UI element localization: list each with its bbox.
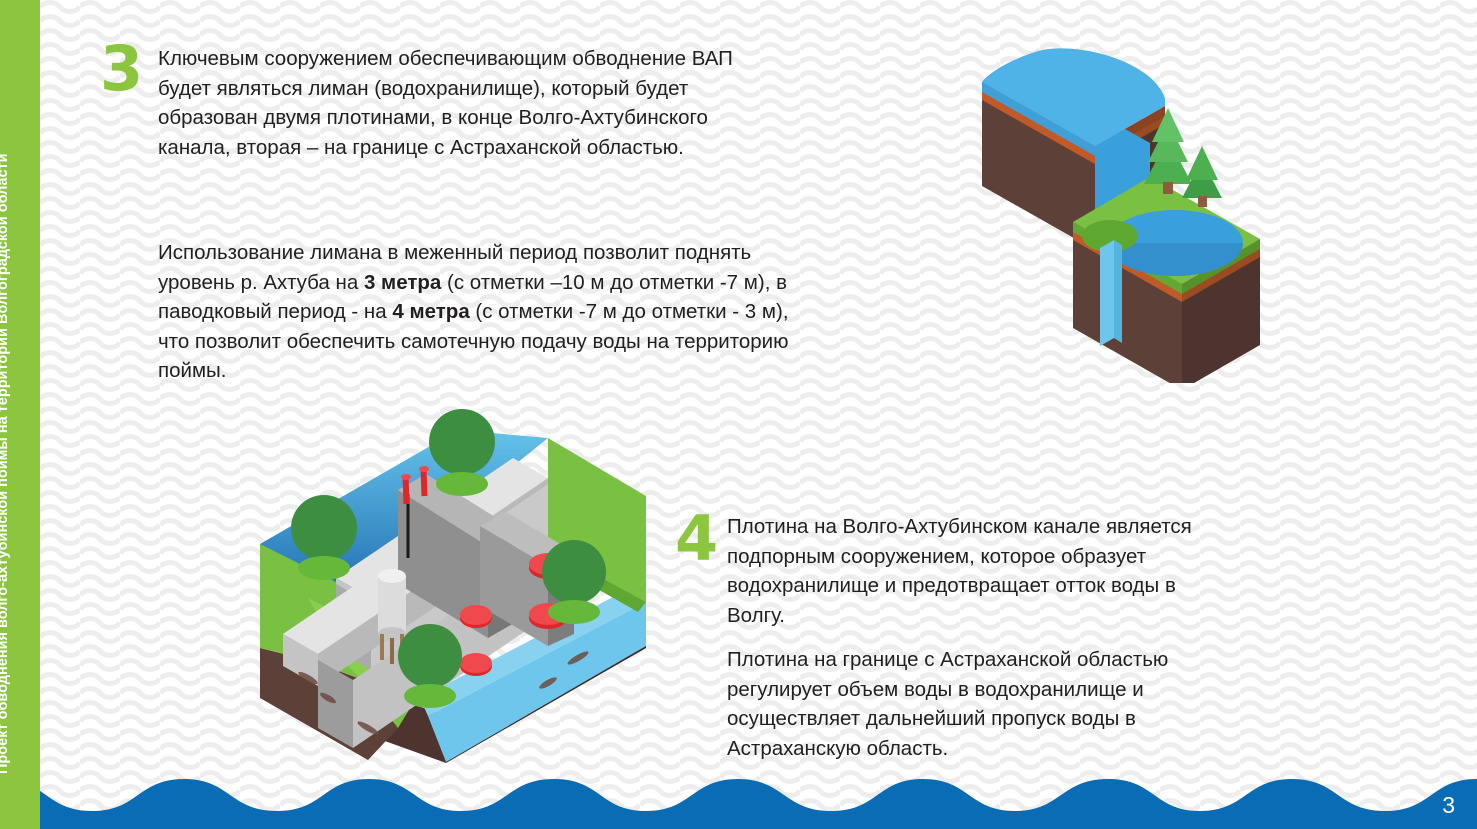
tree-round xyxy=(542,540,606,624)
paragraph-3-2: Использование лимана в меженный период п… xyxy=(158,238,798,386)
sidebar-vertical-title: Проект обводнения волго-ахтубинской пойм… xyxy=(0,153,11,774)
paragraph-3-1: Ключевым сооружением обеспечивающим обво… xyxy=(158,44,738,162)
pine-tree-small xyxy=(1182,146,1222,207)
valve-red xyxy=(460,653,492,676)
reservoir-waterfall-illustration xyxy=(950,38,1290,388)
sidebar-green-strip: Проект обводнения волго-ахтубинской пойм… xyxy=(0,0,40,829)
dam-structure-illustration xyxy=(248,398,658,768)
item-number-4: 4 xyxy=(675,508,718,570)
tree-round xyxy=(291,495,357,580)
footer-wave xyxy=(0,749,1477,829)
paragraph-4-1: Плотина на Волго-Ахтубинском канале явля… xyxy=(727,512,1237,630)
tree-round xyxy=(398,624,462,708)
valve-red xyxy=(460,605,492,628)
slide-root: Проект обводнения волго-ахтубинской пойм… xyxy=(0,0,1477,829)
paragraph-4-2: Плотина на границе с Астраханской област… xyxy=(727,645,1227,763)
page-number: 3 xyxy=(1442,792,1455,819)
item-number-3: 3 xyxy=(100,38,143,100)
seg-1-bold: 3 метра xyxy=(364,271,441,294)
seg-3-bold: 4 метра xyxy=(392,300,469,323)
tree-round xyxy=(429,409,495,496)
